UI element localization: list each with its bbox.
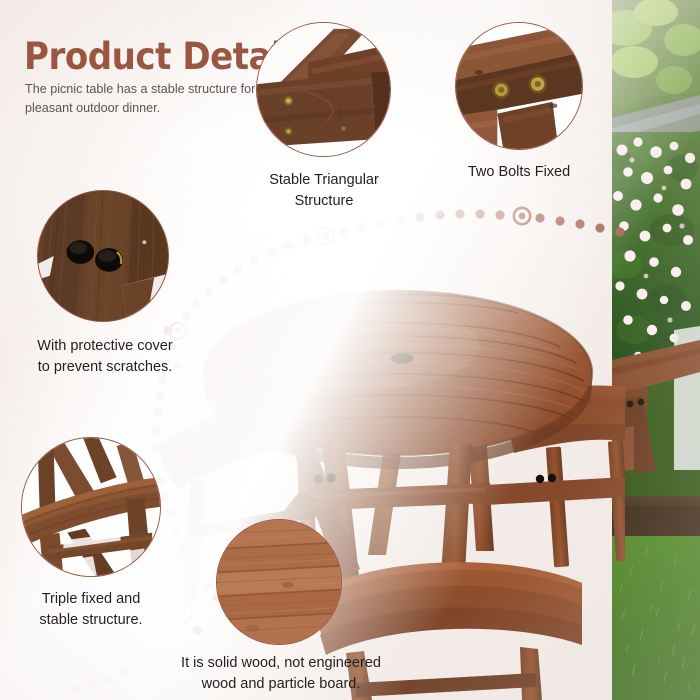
black-cap-closeup-icon <box>37 190 169 322</box>
page-subtitle: The picnic table has a stable structure … <box>25 80 275 118</box>
callout-caption: It is solid wood, not engineered wood an… <box>170 653 392 695</box>
callout-protective-cover: With protective cover to prevent scratch… <box>37 190 169 322</box>
product-detail-banner: Product Detail The picnic table has a st… <box>0 0 700 700</box>
garden-photo-strip <box>612 0 700 700</box>
callout-caption: Triple fixed and stable structure. <box>11 589 171 631</box>
wood-joint-closeup-icon <box>256 22 391 157</box>
wood-grain-closeup-icon <box>216 519 342 645</box>
callout-triple-fixed: Triple fixed and stable structure. <box>21 437 161 577</box>
page-title: Product Detail <box>24 35 294 78</box>
callout-two-bolts-fixed: Two Bolts Fixed <box>455 22 583 150</box>
callout-caption: With protective cover to prevent scratch… <box>0 336 215 378</box>
callout-solid-wood: It is solid wood, not engineered wood an… <box>216 519 342 645</box>
bolt-closeup-icon <box>455 22 583 150</box>
callout-stable-triangular-structure: Stable Triangular Structure <box>256 22 391 157</box>
bench-leg-closeup-icon <box>21 437 161 577</box>
callout-caption: Two Bolts Fixed <box>437 162 601 183</box>
callout-caption: Stable Triangular Structure <box>232 170 416 212</box>
